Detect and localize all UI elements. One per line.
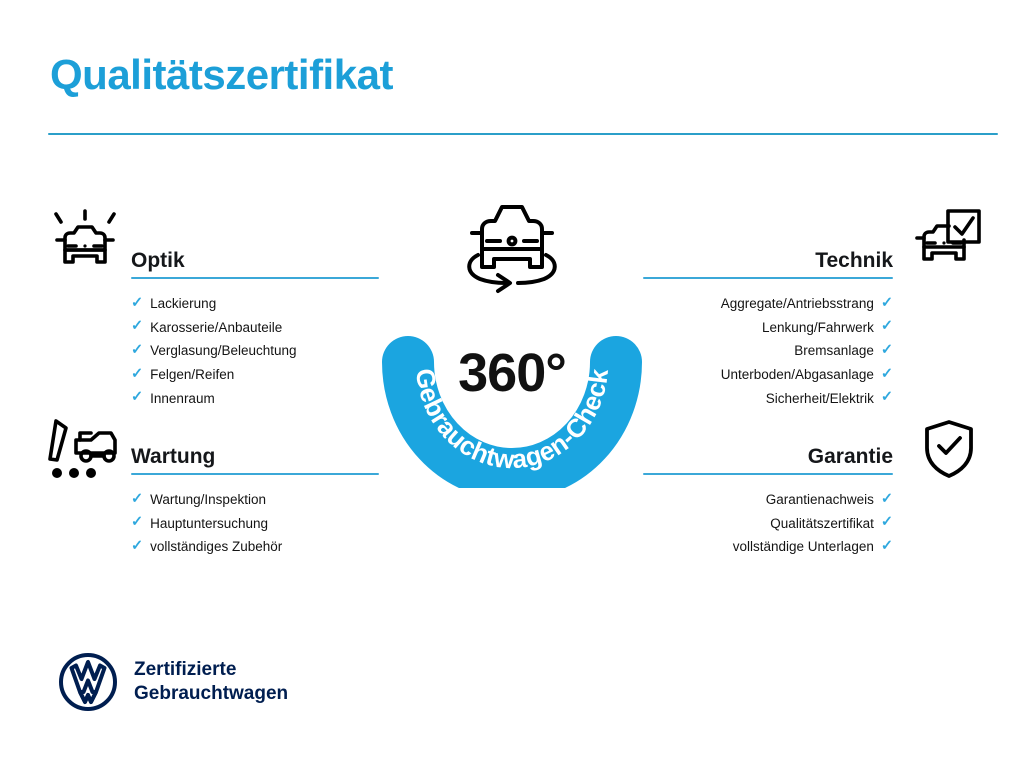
list-item: ✓Karosserie/Anbauteile xyxy=(131,316,379,340)
check-icon: ✓ xyxy=(881,515,893,530)
section-divider xyxy=(643,277,893,279)
list-item-label: vollständiges Zubehör xyxy=(150,540,282,554)
section-title-technik: Technik xyxy=(815,249,893,273)
check-icon: ✓ xyxy=(131,539,143,554)
list-item-label: Sicherheit/Elektrik xyxy=(766,392,874,406)
section-header: Garantie xyxy=(643,433,893,475)
check-icon: ✓ xyxy=(131,492,143,507)
list-item-label: vollständige Unterlagen xyxy=(733,540,874,554)
section-title-wartung: Wartung xyxy=(131,445,215,469)
list-item: Qualitätszertifikat✓ xyxy=(643,512,893,536)
checklist-garantie: Garantienachweis✓ Qualitätszertifikat✓ v… xyxy=(643,488,893,559)
checklist-optik: ✓Lackierung ✓Karosserie/Anbauteile ✓Verg… xyxy=(131,292,379,410)
volkswagen-branding: Zertifizierte Gebrauchtwagen xyxy=(58,652,288,712)
check-icon: ✓ xyxy=(131,390,143,405)
check-icon: ✓ xyxy=(881,390,893,405)
check-icon: ✓ xyxy=(881,319,893,334)
list-item-label: Garantienachweis xyxy=(766,493,874,507)
brand-text: Zertifizierte Gebrauchtwagen xyxy=(134,658,288,706)
list-item: ✓Felgen/Reifen xyxy=(131,363,379,387)
list-item-label: Karosserie/Anbauteile xyxy=(150,321,282,335)
list-item: ✓Hauptuntersuchung xyxy=(131,512,379,536)
list-item: Bremsanlage✓ xyxy=(643,339,893,363)
check-icon: ✓ xyxy=(131,367,143,382)
list-item-label: Wartung/Inspektion xyxy=(150,493,266,507)
check-icon: ✓ xyxy=(881,492,893,507)
title-divider xyxy=(48,133,998,135)
list-item: ✓vollständiges Zubehör xyxy=(131,535,379,559)
section-optik: Optik ✓Lackierung ✓Karosserie/Anbauteile… xyxy=(131,237,379,410)
shield-check-icon xyxy=(922,418,976,485)
page-title: Qualitätszertifikat xyxy=(50,52,393,98)
check-icon: ✓ xyxy=(881,367,893,382)
section-technik: Technik Aggregate/Antriebsstrang✓ Lenkun… xyxy=(643,237,893,410)
list-item-label: Bremsanlage xyxy=(794,344,874,358)
section-header: Wartung xyxy=(131,433,379,475)
check-icon: ✓ xyxy=(131,515,143,530)
check-icon: ✓ xyxy=(881,343,893,358)
car-rotation-icon xyxy=(456,193,568,299)
section-header: Technik xyxy=(643,237,893,279)
list-item: Aggregate/Antriebsstrang✓ xyxy=(643,292,893,316)
check-icon: ✓ xyxy=(131,296,143,311)
list-item: ✓Wartung/Inspektion xyxy=(131,488,379,512)
brand-line-2: Gebrauchtwagen xyxy=(134,682,288,706)
list-item: ✓Innenraum xyxy=(131,387,379,411)
section-garantie: Garantie Garantienachweis✓ Qualitätszert… xyxy=(643,433,893,559)
list-item-label: Hauptuntersuchung xyxy=(150,517,268,531)
check-icon: ✓ xyxy=(881,296,893,311)
list-item-label: Lackierung xyxy=(150,297,216,311)
certificate-page: Qualitätszertifikat xyxy=(0,0,1024,768)
list-item-label: Innenraum xyxy=(150,392,215,406)
list-item: Unterboden/Abgasanlage✓ xyxy=(643,363,893,387)
car-shine-icon xyxy=(48,208,122,283)
list-item: Sicherheit/Elektrik✓ xyxy=(643,387,893,411)
car-checkbox-icon xyxy=(912,207,984,280)
section-divider xyxy=(131,277,379,279)
list-item: vollständige Unterlagen✓ xyxy=(643,535,893,559)
check-icon: ✓ xyxy=(131,343,143,358)
volkswagen-logo xyxy=(58,652,118,712)
section-title-optik: Optik xyxy=(131,249,185,273)
check-icon: ✓ xyxy=(131,319,143,334)
list-item: Garantienachweis✓ xyxy=(643,488,893,512)
brand-line-1: Zertifizierte xyxy=(134,658,288,682)
degrees-label: 360° xyxy=(378,346,646,400)
section-divider xyxy=(643,473,893,475)
list-item: Lenkung/Fahrwerk✓ xyxy=(643,316,893,340)
check-icon: ✓ xyxy=(881,539,893,554)
section-wartung: Wartung ✓Wartung/Inspektion ✓Hauptunters… xyxy=(131,433,379,559)
list-item-label: Aggregate/Antriebsstrang xyxy=(721,297,874,311)
list-item-label: Felgen/Reifen xyxy=(150,368,234,382)
list-item-label: Qualitätszertifikat xyxy=(770,517,874,531)
list-item-label: Unterboden/Abgasanlage xyxy=(721,368,874,382)
list-item-label: Verglasung/Beleuchtung xyxy=(150,344,296,358)
section-divider xyxy=(131,473,379,475)
section-title-garantie: Garantie xyxy=(808,445,893,469)
badge-360-gebrauchtwagen-check: Gebrauchtwagen-Check 360° xyxy=(378,193,646,488)
list-item-label: Lenkung/Fahrwerk xyxy=(762,321,874,335)
car-wrench-icon xyxy=(46,415,124,486)
list-item: ✓Lackierung xyxy=(131,292,379,316)
list-item: ✓Verglasung/Beleuchtung xyxy=(131,339,379,363)
section-header: Optik xyxy=(131,237,379,279)
checklist-wartung: ✓Wartung/Inspektion ✓Hauptuntersuchung ✓… xyxy=(131,488,379,559)
checklist-technik: Aggregate/Antriebsstrang✓ Lenkung/Fahrwe… xyxy=(643,292,893,410)
